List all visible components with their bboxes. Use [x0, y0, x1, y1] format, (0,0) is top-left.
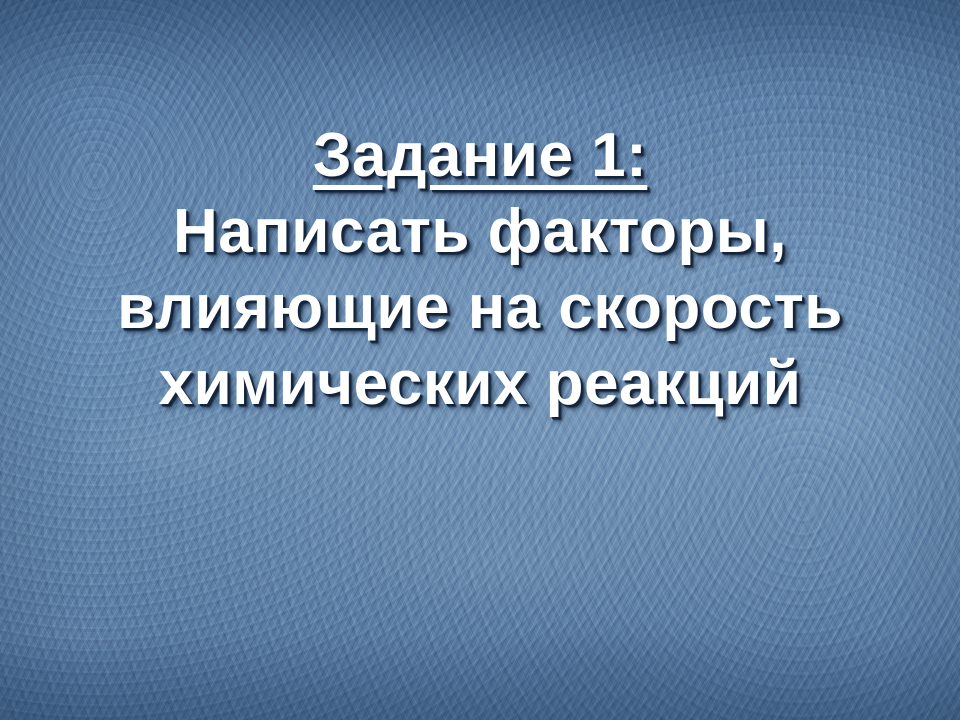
slide-title-line-3: влияющие на скорость [0, 270, 960, 346]
slide-title-line-2: Написать факторы, [0, 194, 960, 270]
slide-title-block: Задание 1: Написать факторы, влияющие на… [0, 118, 960, 422]
slide-title-line-1: Задание 1: [0, 118, 960, 194]
slide-title-line-4: химических реакций [0, 346, 960, 422]
presentation-slide: Задание 1: Написать факторы, влияющие на… [0, 0, 960, 720]
